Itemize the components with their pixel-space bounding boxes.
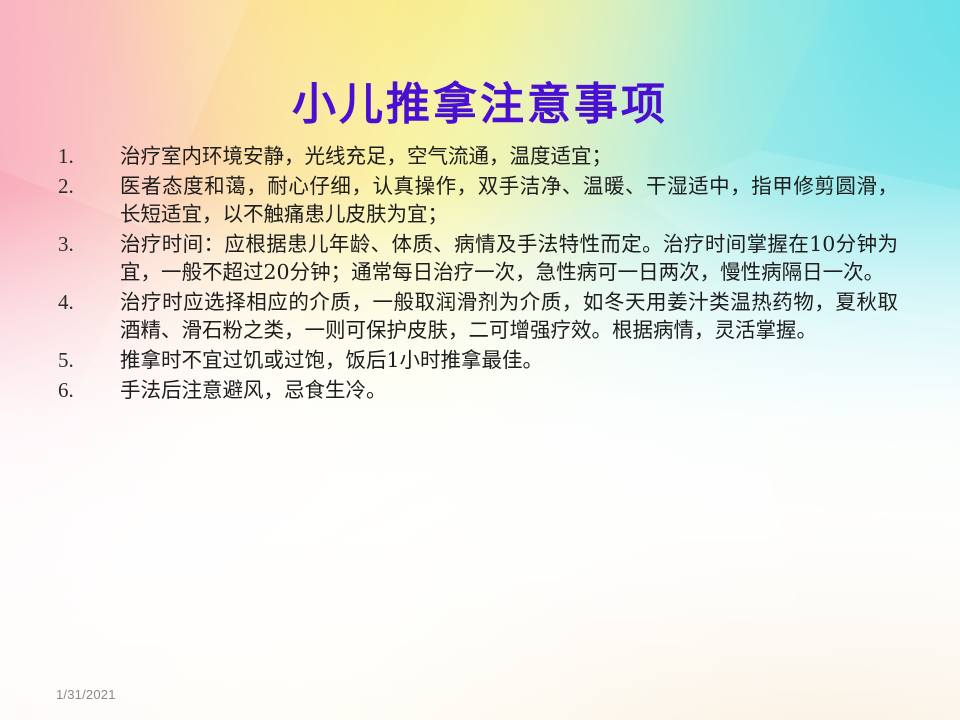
list-item-text: 治疗室内环境安静，光线充足，空气流通，温度适宜； xyxy=(120,142,898,170)
list-item-number: 6. xyxy=(52,376,120,404)
list-item: 1. 治疗室内环境安静，光线充足，空气流通，温度适宜； xyxy=(52,142,898,170)
slide-canvas: 小儿推拿注意事项 1. 治疗室内环境安静，光线充足，空气流通，温度适宜； 2. … xyxy=(0,0,960,720)
list-item-number: 4. xyxy=(52,288,120,316)
page-title: 小儿推拿注意事项 xyxy=(0,81,960,129)
list-item-text: 治疗时应选择相应的介质，一般取润滑剂为介质，如冬天用姜汁类温热药物，夏秋取酒精、… xyxy=(120,288,898,344)
list-item: 6. 手法后注意避风，忌食生冷。 xyxy=(52,376,898,404)
list-item-text: 推拿时不宜过饥或过饱，饭后1小时推拿最佳。 xyxy=(120,346,898,374)
list-item-text: 手法后注意避风，忌食生冷。 xyxy=(120,376,898,404)
list-item-number: 1. xyxy=(52,142,120,170)
list-item: 2. 医者态度和蔼，耐心仔细，认真操作，双手洁净、温暖、干湿适中，指甲修剪圆滑，… xyxy=(52,172,898,228)
numbered-list: 1. 治疗室内环境安静，光线充足，空气流通，温度适宜； 2. 医者态度和蔼，耐心… xyxy=(52,142,898,406)
list-item-number: 3. xyxy=(52,230,120,258)
list-item-number: 2. xyxy=(52,172,120,200)
list-item-number: 5. xyxy=(52,346,120,374)
footer-date: 1/31/2021 xyxy=(56,687,116,702)
list-item-text: 治疗时间：应根据患儿年龄、体质、病情及手法特性而定。治疗时间掌握在10分钟为宜，… xyxy=(120,230,898,286)
list-item: 4. 治疗时应选择相应的介质，一般取润滑剂为介质，如冬天用姜汁类温热药物，夏秋取… xyxy=(52,288,898,344)
list-item-text: 医者态度和蔼，耐心仔细，认真操作，双手洁净、温暖、干湿适中，指甲修剪圆滑，长短适… xyxy=(120,172,898,228)
list-item: 3. 治疗时间：应根据患儿年龄、体质、病情及手法特性而定。治疗时间掌握在10分钟… xyxy=(52,230,898,286)
list-item: 5. 推拿时不宜过饥或过饱，饭后1小时推拿最佳。 xyxy=(52,346,898,374)
